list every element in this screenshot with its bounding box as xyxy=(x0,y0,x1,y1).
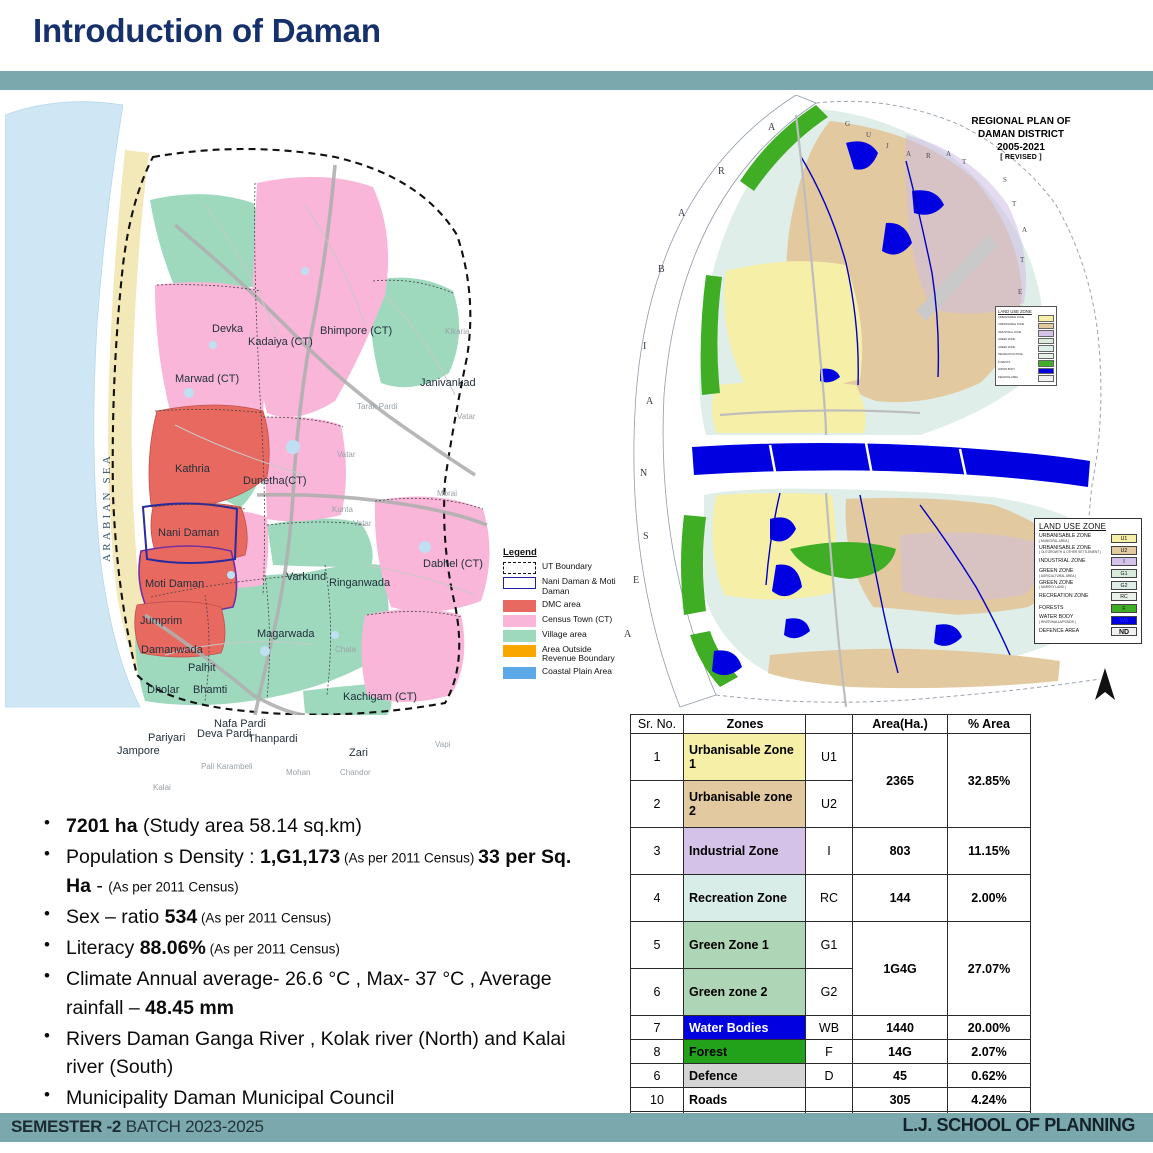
legend-swatch xyxy=(503,577,536,589)
map-boundary-letter: A xyxy=(624,629,631,640)
map-boundary-letter: I xyxy=(643,341,646,352)
inset-legend-title: LAND USE ZONE xyxy=(998,309,1054,314)
legend-title: Legend xyxy=(503,547,623,558)
cell-area: 1G4G xyxy=(853,922,948,1016)
inset-legend-swatch xyxy=(1038,323,1054,330)
bullet-text-part: (Study area 58.14 sq.km) xyxy=(138,815,362,837)
land-use-swatch: U1 xyxy=(1111,534,1137,543)
land-use-legend-item: WATER BODY( RIVER/NALLA/PONDS )WB xyxy=(1039,615,1137,624)
inset-legend-label: GREEN ZONE xyxy=(998,339,1015,342)
cell-sr-no: 6 xyxy=(631,969,684,1016)
map-boundary-letter: A xyxy=(906,150,911,158)
land-use-sublabel: ( RIVER/NALLA/PONDS ) xyxy=(1039,621,1076,625)
cell-sr-no: 5 xyxy=(631,922,684,969)
cell-zone-code: F xyxy=(806,1040,853,1064)
legend-swatch xyxy=(503,600,536,612)
legend-swatch xyxy=(503,645,536,657)
map-place-label: Kathria xyxy=(175,463,210,475)
map-boundary-letter: A xyxy=(678,208,685,219)
cell-sr-no: 2 xyxy=(631,781,684,828)
bullet-text-part: (As per 2011 Census) xyxy=(197,910,331,925)
cell-zone-code: RC xyxy=(806,875,853,922)
fact-bullet: Literacy 88.06% (As per 2011 Census) xyxy=(36,934,596,962)
map-place-label: Kalai xyxy=(153,783,171,792)
inset-legend-label: FORESTS xyxy=(998,362,1010,365)
cell-sr-no: 4 xyxy=(631,875,684,922)
land-use-swatch: G2 xyxy=(1111,581,1137,590)
cell-zone-name: Recreation Zone xyxy=(684,875,806,922)
map-place-label: Vatar xyxy=(337,450,356,459)
land-use-legend: LAND USE ZONE URBANISABLE ZONE( MUNICIPA… xyxy=(1034,518,1142,644)
cell-percent: 27.07% xyxy=(948,922,1031,1016)
cell-sr-no: 8 xyxy=(631,1040,684,1064)
map-boundary-letter: J xyxy=(886,142,889,150)
cell-percent: 4.24% xyxy=(948,1088,1031,1112)
table-row: 3Industrial ZoneI80311.15% xyxy=(631,828,1031,875)
land-use-name: URBANISABLE ZONE( MUNICIPAL AREA ) xyxy=(1039,534,1091,543)
bullet-text-part: 7201 ha xyxy=(66,815,138,837)
legend-item-label: UT Boundary xyxy=(542,562,592,572)
legend-swatch xyxy=(503,615,536,627)
cell-zone-code: D xyxy=(806,1064,853,1088)
col-area: Area(Ha.) xyxy=(853,715,948,734)
bullet-text-part: (As per 2011 Census) xyxy=(206,942,340,957)
regional-plan-title: REGIONAL PLAN OF DAMAN DISTRICT 2005-202… xyxy=(946,116,1096,163)
inset-legend-item: INDUSTRIAL ZONE xyxy=(998,330,1054,337)
inset-legend-item: WATER BODY xyxy=(998,368,1054,375)
fact-bullet: Climate Annual average- 26.6 °C , Max- 3… xyxy=(36,965,596,1022)
cell-area: 2365 xyxy=(853,734,948,828)
map-boundary-letter: S xyxy=(643,531,649,542)
map-place-label: Ringanwada xyxy=(329,577,390,589)
fact-bullet: Sex – ratio 534 (As per 2011 Census) xyxy=(36,903,596,931)
land-use-legend-item: URBANISABLE ZONE( OUTGROWTH & OTHER SETT… xyxy=(1039,546,1137,555)
map-place-label: Dholar xyxy=(147,684,179,696)
col-zones: Zones xyxy=(684,715,806,734)
map-place-label: Dabhel (CT) xyxy=(423,558,483,570)
inset-legend-item: FORESTS xyxy=(998,360,1054,367)
table-row: 6DefenceD450.62% xyxy=(631,1064,1031,1088)
bullet-text-part: Literacy xyxy=(66,937,140,959)
map-boundary-letter: A xyxy=(946,150,951,158)
legend-item-label: Census Town (CT) xyxy=(542,615,612,625)
map-boundary-letter: E xyxy=(1018,288,1022,296)
map-boundary-letter: G xyxy=(845,120,850,128)
inset-legend-swatch xyxy=(1038,368,1054,375)
map-place-label: Bhamti xyxy=(193,684,227,696)
legend-item: UT Boundary xyxy=(503,562,623,574)
map-place-label: Moti Daman xyxy=(145,578,204,590)
legend-item-label: Village area xyxy=(542,630,587,640)
table-body: 1Urbanisable Zone 1U1236532.85%2Urbanisa… xyxy=(631,734,1031,1136)
land-use-legend-item: INDUSTRIAL ZONEI xyxy=(1039,557,1137,566)
map-place-label: Dunetha(CT) xyxy=(243,475,307,487)
inset-legend-swatch xyxy=(1038,353,1054,360)
legend-item: Coastal Plain Area xyxy=(503,667,623,679)
map-place-label: Deva Pardi xyxy=(197,728,251,740)
map-place-label: Vatar xyxy=(457,412,476,421)
map-boundary-letter: N xyxy=(640,468,647,479)
cell-zone-name: Industrial Zone xyxy=(684,828,806,875)
cell-percent: 11.15% xyxy=(948,828,1031,875)
school-name: L.J. SCHOOL OF PLANNING xyxy=(903,1115,1135,1136)
land-use-sublabel: ( AGRICULTURAL AREA ) xyxy=(1039,575,1076,579)
cell-percent: 20.00% xyxy=(948,1016,1031,1040)
map-boundary-letter: T xyxy=(1020,256,1024,264)
land-use-legend-item: FORESTSF xyxy=(1039,604,1137,613)
land-use-legend-title: LAND USE ZONE xyxy=(1039,522,1137,531)
map-place-label: Vapi xyxy=(435,740,450,749)
bullet-text-part: Climate Annual average- 26.6 °C , Max- 3… xyxy=(66,968,552,1018)
map-place-label: Vatar xyxy=(353,519,372,528)
cell-sr-no: 1 xyxy=(631,734,684,781)
map-place-label: Tarak Pardi xyxy=(357,402,397,411)
map-boundary-letter: E xyxy=(633,575,639,586)
cell-area: 305 xyxy=(853,1088,948,1112)
inset-legend-item: DEFENCE AREA xyxy=(998,375,1054,382)
legend-swatch xyxy=(503,667,536,679)
cell-zone-name: Forest xyxy=(684,1040,806,1064)
cell-percent: 32.85% xyxy=(948,734,1031,828)
map-boundary-letter: B xyxy=(658,264,665,275)
fact-bullet: 7201 ha (Study area 58.14 sq.km) xyxy=(36,812,596,840)
table-row: 1Urbanisable Zone 1U1236532.85% xyxy=(631,734,1031,781)
map-place-label: Bhimpore (CT) xyxy=(320,325,392,337)
inset-legend-label: INDUSTRIAL ZONE xyxy=(998,332,1021,335)
col-pct: % Area xyxy=(948,715,1031,734)
cell-zone-code: WB xyxy=(806,1016,853,1040)
map-place-label: Devka xyxy=(212,323,243,335)
map-boundary-letter: T xyxy=(962,158,966,166)
inset-legend-label: URBANISABLE ZONE xyxy=(998,317,1024,320)
rp-title-line1: REGIONAL PLAN OF xyxy=(946,116,1096,129)
inset-legend-item: URBANISABLE ZONE xyxy=(998,315,1054,322)
land-use-name: DEFENCE AREA xyxy=(1039,629,1079,635)
land-use-sublabel: ( OUTGROWTH & OTHER SETTLEMENT ) xyxy=(1039,551,1101,555)
cell-zone-code: U2 xyxy=(806,781,853,828)
land-use-legend-item: RECREATION ZONERC xyxy=(1039,592,1137,601)
table-head: Sr. No. Zones Area(Ha.) % Area xyxy=(631,715,1031,734)
col-code xyxy=(806,715,853,734)
map-place-label: Kunta xyxy=(332,505,353,514)
fact-bullet: Rivers Daman Ganga River , Kolak river (… xyxy=(36,1025,596,1082)
bullet-text-part: 534 xyxy=(165,906,198,928)
legend-item: Area Outside Revenue Boundary xyxy=(503,645,623,665)
cell-zone-name: Urbanisable Zone 1 xyxy=(684,734,806,781)
land-use-legend-item: GREEN ZONE( AGRICULTURAL AREA )G1 xyxy=(1039,569,1137,578)
cell-area: 803 xyxy=(853,828,948,875)
map-boundary-letter: R xyxy=(718,166,725,177)
cell-zone-name: Water Bodies xyxy=(684,1016,806,1040)
cell-zone-code: U1 xyxy=(806,734,853,781)
table-row: 4Recreation ZoneRC1442.00% xyxy=(631,875,1031,922)
map-place-label: Varkund xyxy=(286,571,326,583)
fact-bullet: Municipality Daman Municipal Council xyxy=(36,1084,596,1112)
land-use-swatch: ND xyxy=(1111,627,1137,636)
legend-item-label: Coastal Plain Area xyxy=(542,667,612,677)
map-boundary-letter: S xyxy=(1003,176,1007,184)
table-row: 7Water BodiesWB144020.00% xyxy=(631,1016,1031,1040)
cell-sr-no: 10 xyxy=(631,1088,684,1112)
legend-item: Nani Daman & Moti Daman xyxy=(503,577,623,597)
land-use-name: GREEN ZONE( MARSHY LAND ) xyxy=(1039,581,1073,590)
legend-swatch xyxy=(503,562,536,574)
inset-legend-label: URBANISABLE ZONE xyxy=(998,324,1024,327)
rp-title-line2: DAMAN DISTRICT xyxy=(946,129,1096,142)
legend-item-label: DMC area xyxy=(542,600,581,610)
map-boundary-letter: R xyxy=(926,152,931,160)
land-use-name: GREEN ZONE( AGRICULTURAL AREA ) xyxy=(1039,569,1076,578)
legend-item: Village area xyxy=(503,630,623,642)
cell-sr-no: 6 xyxy=(631,1064,684,1088)
bullet-text-part: - xyxy=(91,875,108,897)
cell-zone-code: I xyxy=(806,828,853,875)
land-use-name: FORESTS xyxy=(1039,606,1064,612)
land-use-legend-item: URBANISABLE ZONE( MUNICIPAL AREA )U1 xyxy=(1039,534,1137,543)
inset-legend-label: RECREATION ZONE xyxy=(998,354,1023,357)
map-place-label: Kikaria xyxy=(445,327,469,336)
inset-legend-item: RECREATION ZONE xyxy=(998,353,1054,360)
table-row: 10Roads3054.24% xyxy=(631,1088,1031,1112)
land-use-area-table: Sr. No. Zones Area(Ha.) % Area 1Urbanisa… xyxy=(630,714,1031,1136)
bullet-text-part: Population s Density : xyxy=(66,846,260,868)
cell-zone-name: Urbanisable zone 2 xyxy=(684,781,806,828)
bullet-text-part: (As per 2011 Census) xyxy=(340,851,478,866)
north-arrow-icon xyxy=(1094,668,1116,707)
land-use-legend-item: DEFENCE AREAND xyxy=(1039,627,1137,636)
inset-legend-swatch xyxy=(1038,345,1054,352)
map-place-label: Nani Daman xyxy=(158,527,219,539)
village-map-legend: Legend UT BoundaryNani Daman & Moti Dama… xyxy=(503,547,623,682)
map-place-label: Damanwada xyxy=(141,644,203,656)
inset-legend-swatch xyxy=(1038,375,1054,382)
map-place-label: Kachigam (CT) xyxy=(343,691,417,703)
map-boundary-letter: A xyxy=(768,122,775,133)
cell-zone-name: Roads xyxy=(684,1088,806,1112)
map-place-label: Pali Karambeli xyxy=(201,762,253,771)
cell-zone-name: Green zone 2 xyxy=(684,969,806,1016)
map-place-label: Magarwada xyxy=(257,628,314,640)
cell-area: 14G xyxy=(853,1040,948,1064)
bullet-text-part: Sex – ratio xyxy=(66,906,165,928)
map-place-label: Pariyari xyxy=(148,732,185,744)
cell-sr-no: 7 xyxy=(631,1016,684,1040)
land-use-swatch: F xyxy=(1111,604,1137,613)
inset-legend-swatch xyxy=(1038,315,1054,322)
map-place-label: Morai xyxy=(437,489,457,498)
land-use-swatch: U2 xyxy=(1111,546,1137,555)
arabian-sea-label: ARABIAN SEA xyxy=(101,453,113,562)
page-title: Introduction of Daman xyxy=(33,12,381,50)
map-place-label: Chala xyxy=(335,645,356,654)
bullet-text-part: 1,G1,173 xyxy=(260,846,340,868)
land-use-swatch: I xyxy=(1111,557,1137,566)
bullet-text-part: Municipality Daman Municipal Council xyxy=(66,1087,394,1109)
rp-title-revised: [ REVISED ] xyxy=(946,154,1096,163)
cell-zone-code xyxy=(806,1088,853,1112)
map-place-label: Jumprim xyxy=(140,615,182,627)
map-place-label: Chandor xyxy=(340,768,371,777)
inset-legend-swatch xyxy=(1038,330,1054,337)
cell-area: 1440 xyxy=(853,1016,948,1040)
batch-label: BATCH 2023-2025 xyxy=(126,1117,264,1136)
land-use-name: URBANISABLE ZONE( OUTGROWTH & OTHER SETT… xyxy=(1039,546,1101,555)
header-accent-band xyxy=(0,71,1153,90)
map-boundary-letter: A xyxy=(646,396,653,407)
table-header-row: Sr. No. Zones Area(Ha.) % Area xyxy=(631,715,1031,734)
land-use-name: INDUSTRIAL ZONE xyxy=(1039,559,1086,565)
land-use-sublabel: ( MUNICIPAL AREA ) xyxy=(1039,540,1091,544)
inset-legend-item: GREEN ZONE xyxy=(998,338,1054,345)
table-row: 8ForestF14G2.07% xyxy=(631,1040,1031,1064)
map-place-label: Janivankad xyxy=(420,377,476,389)
map-place-label: Kadaiya (CT) xyxy=(248,336,313,348)
land-use-name: RECREATION ZONE xyxy=(1039,594,1088,600)
semester-label: SEMESTER -2 xyxy=(11,1117,121,1136)
inset-legend-label: WATER BODY xyxy=(998,369,1015,372)
cell-zone-name: Green Zone 1 xyxy=(684,922,806,969)
cell-zone-code: G1 xyxy=(806,922,853,969)
cell-area: 45 xyxy=(853,1064,948,1088)
table-row: 5Green Zone 1G11G4G27.07% xyxy=(631,922,1031,969)
map-place-label: Mohan xyxy=(286,768,310,777)
inset-legend-label: GREEN ZONE xyxy=(998,347,1015,350)
footer-left: SEMESTER -2 BATCH 2023-2025 xyxy=(11,1117,264,1137)
legend-item-label: Area Outside Revenue Boundary xyxy=(542,645,623,665)
map-place-label: Thanpardi xyxy=(248,733,298,745)
col-sr-no: Sr. No. xyxy=(631,715,684,734)
inset-legend-swatch xyxy=(1038,360,1054,367)
land-use-name: WATER BODY( RIVER/NALLA/PONDS ) xyxy=(1039,615,1076,624)
map-place-label: Marwad (CT) xyxy=(175,373,239,385)
legend-swatch xyxy=(503,630,536,642)
map-boundary-letter: U xyxy=(866,131,871,139)
map-place-label: Jampore xyxy=(117,745,160,757)
map-place-label: Palhit xyxy=(188,662,216,674)
map-place-label: Zari xyxy=(349,747,368,759)
bullet-text-part: Rivers Daman Ganga River , Kolak river (… xyxy=(66,1028,566,1078)
rp-title-line3: 2005-2021 xyxy=(946,142,1096,155)
cell-sr-no: 3 xyxy=(631,828,684,875)
cell-percent: 2.00% xyxy=(948,875,1031,922)
land-use-legend-inset: LAND USE ZONE URBANISABLE ZONEURBANISABL… xyxy=(995,306,1057,386)
inset-legend-item: GREEN ZONE xyxy=(998,345,1054,352)
legend-item: Census Town (CT) xyxy=(503,615,623,627)
legend-item-label: Nani Daman & Moti Daman xyxy=(542,577,623,597)
cell-zone-code: G2 xyxy=(806,969,853,1016)
land-use-swatch: RC xyxy=(1111,592,1137,601)
map-boundary-letter: A xyxy=(1022,226,1027,234)
bullet-text-part: 88.06% xyxy=(140,937,206,959)
cell-zone-name: Defence xyxy=(684,1064,806,1088)
land-use-legend-item: GREEN ZONE( MARSHY LAND )G2 xyxy=(1039,581,1137,590)
bullet-text-part: 48.45 mm xyxy=(145,997,234,1019)
land-use-swatch: WB xyxy=(1111,616,1137,625)
bullet-list: 7201 ha (Study area 58.14 sq.km)Populati… xyxy=(36,812,596,1113)
cell-percent: 0.62% xyxy=(948,1064,1031,1088)
land-use-swatch: G1 xyxy=(1111,569,1137,578)
bullet-text-part: (As per 2011 Census) xyxy=(108,879,238,894)
inset-legend-label: DEFENCE AREA xyxy=(998,377,1018,380)
inset-legend-swatch xyxy=(1038,338,1054,345)
cell-percent: 2.07% xyxy=(948,1040,1031,1064)
fact-bullet: Population s Density : 1,G1,173 (As per … xyxy=(36,843,596,900)
legend-item: DMC area xyxy=(503,600,623,612)
map-boundary-letter: T xyxy=(1012,200,1016,208)
cell-area: 144 xyxy=(853,875,948,922)
land-use-sublabel: ( MARSHY LAND ) xyxy=(1039,586,1073,590)
key-facts-list: 7201 ha (Study area 58.14 sq.km)Populati… xyxy=(36,812,596,1116)
inset-legend-item: URBANISABLE ZONE xyxy=(998,323,1054,330)
